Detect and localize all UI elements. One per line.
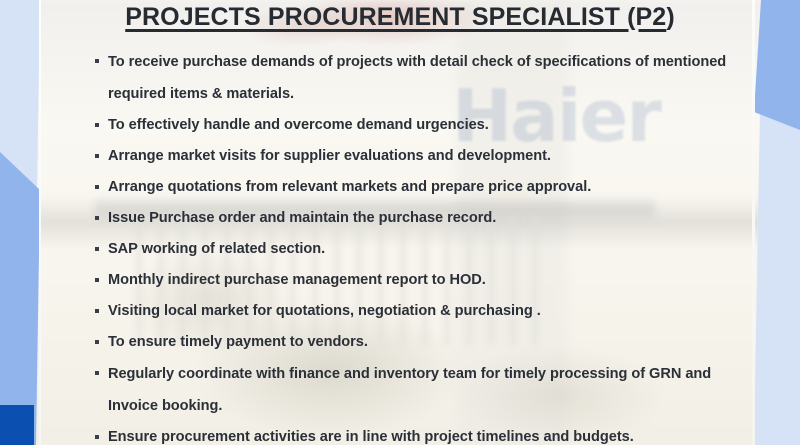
list-item-text: To effectively handle and overcome deman… xyxy=(108,117,489,133)
bullet-dot-icon xyxy=(95,59,99,63)
list-item: Arrange quotations from relevant markets… xyxy=(95,172,730,203)
bullet-dot-icon xyxy=(95,123,99,127)
list-item-text: To ensure timely payment to vendors. xyxy=(108,334,368,350)
bullet-dot-icon xyxy=(95,154,99,158)
bullet-dot-icon xyxy=(95,185,99,189)
list-item-text: Issue Purchase order and maintain the pu… xyxy=(108,210,496,226)
bullet-dot-icon xyxy=(95,340,99,344)
bullet-dot-icon xyxy=(95,278,99,282)
list-item: Issue Purchase order and maintain the pu… xyxy=(95,203,730,234)
list-item-text: Arrange market visits for supplier evalu… xyxy=(108,148,551,164)
slide: Haier PROJECTS PROCUREMENT SPECIALIST (P… xyxy=(0,0,800,445)
list-item-text: Monthly indirect purchase management rep… xyxy=(108,272,486,288)
list-item-text: To receive purchase demands of projects … xyxy=(108,54,726,102)
list-item: Regularly coordinate with finance and in… xyxy=(95,358,730,422)
list-item: Visiting local market for quotations, ne… xyxy=(95,296,730,327)
bullet-dot-icon xyxy=(95,435,99,439)
list-item-text: Regularly coordinate with finance and in… xyxy=(108,366,711,414)
list-item-text: SAP working of related section. xyxy=(108,241,325,257)
page-title-trailing: ) xyxy=(666,3,674,31)
list-item-text: Ensure procurement activities are in lin… xyxy=(108,429,634,445)
list-item: To effectively handle and overcome deman… xyxy=(95,110,730,141)
list-item: Arrange market visits for supplier evalu… xyxy=(95,141,730,172)
list-item-text: Visiting local market for quotations, ne… xyxy=(108,303,541,319)
slide-content: PROJECTS PROCUREMENT SPECIALIST (P2) To … xyxy=(0,0,800,445)
bullet-dot-icon xyxy=(95,371,99,375)
bullet-dot-icon xyxy=(95,247,99,251)
list-item: Monthly indirect purchase management rep… xyxy=(95,265,730,296)
bullet-dot-icon xyxy=(95,309,99,313)
list-item: To receive purchase demands of projects … xyxy=(95,46,730,110)
page-title-underlined: PROJECTS PROCUREMENT SPECIALIST (P2 xyxy=(125,3,666,31)
bullet-dot-icon xyxy=(95,216,99,220)
responsibilities-list: To receive purchase demands of projects … xyxy=(95,46,730,445)
page-title: PROJECTS PROCUREMENT SPECIALIST (P2) xyxy=(0,3,800,32)
list-item: To ensure timely payment to vendors. xyxy=(95,327,730,358)
list-item: Ensure procurement activities are in lin… xyxy=(95,422,730,445)
list-item: SAP working of related section. xyxy=(95,234,730,265)
list-item-text: Arrange quotations from relevant markets… xyxy=(108,179,591,195)
